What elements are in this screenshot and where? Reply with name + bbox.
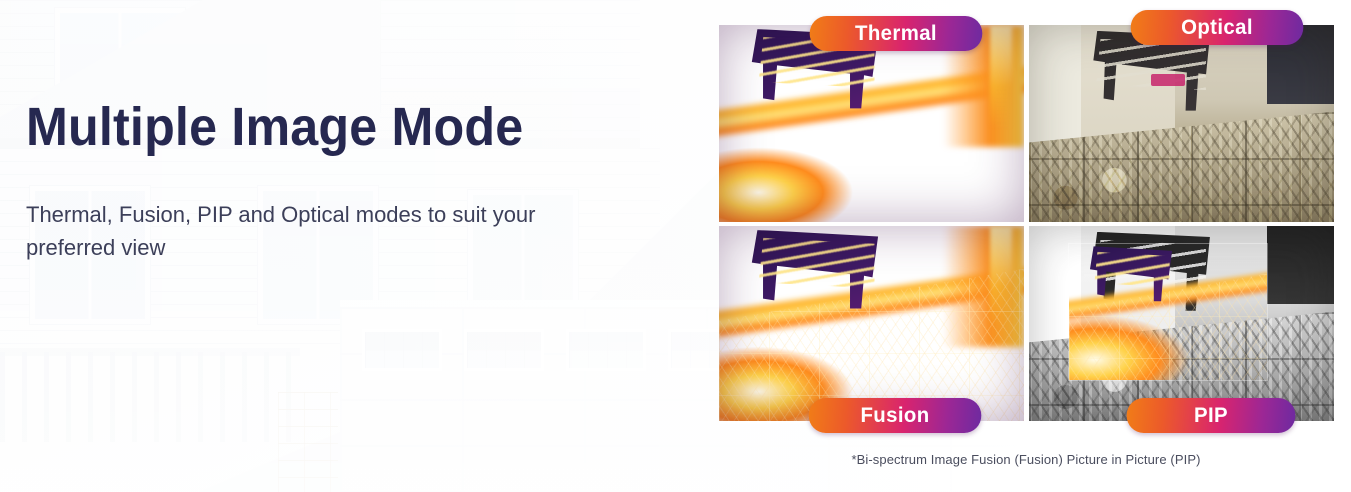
- optical-vignette: [1029, 25, 1334, 222]
- mode-label-thermal[interactable]: Thermal: [810, 16, 983, 51]
- mode-label-fusion[interactable]: Fusion: [809, 398, 982, 433]
- mode-label-pip[interactable]: PIP: [1127, 398, 1296, 433]
- mode-tile-pip[interactable]: [1029, 226, 1334, 421]
- thermal-vignette: [719, 25, 1024, 222]
- fusion-vignette: [719, 226, 1024, 421]
- footnote-caption: *Bi-spectrum Image Fusion (Fusion) Pictu…: [719, 452, 1333, 467]
- mode-tile-optical[interactable]: [1029, 25, 1334, 222]
- hero-copy: Multiple Image Mode Thermal, Fusion, PIP…: [26, 96, 666, 264]
- hero-subtitle: Thermal, Fusion, PIP and Optical modes t…: [26, 198, 546, 264]
- mode-tile-thermal[interactable]: [719, 25, 1024, 222]
- pip-inset-bench-slats: [1094, 252, 1169, 287]
- mode-tile-fusion[interactable]: [719, 226, 1024, 421]
- image-mode-grid: [719, 25, 1333, 424]
- page-title: Multiple Image Mode: [26, 96, 621, 158]
- mode-label-optical[interactable]: Optical: [1131, 10, 1304, 45]
- pip-thermal-inset: [1069, 244, 1267, 381]
